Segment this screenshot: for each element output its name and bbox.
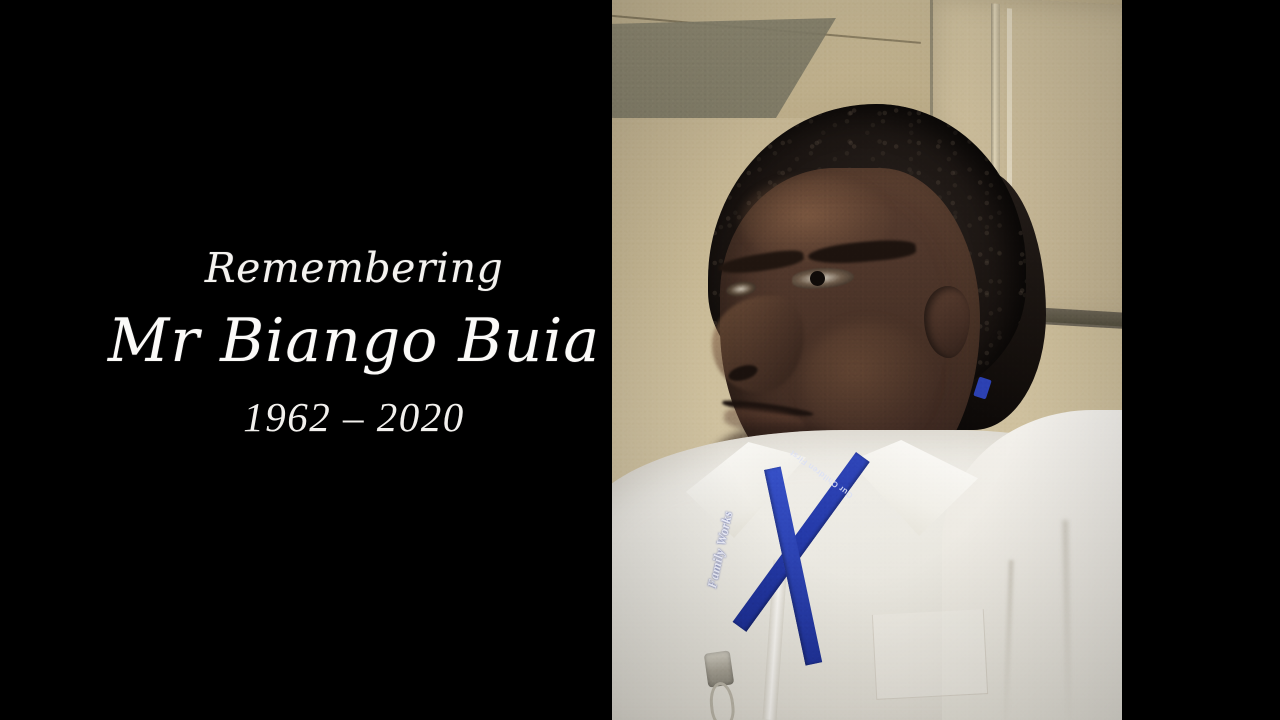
- memorial-slide: Remembering Mr Biango Buia 1962 – 2020: [0, 0, 1280, 720]
- memorial-text-block: Remembering Mr Biango Buia 1962 – 2020: [0, 248, 708, 438]
- memorial-dates: 1962 – 2020: [0, 397, 708, 438]
- memorial-portrait-photo: Family Works Our Children First: [612, 0, 1122, 720]
- memorial-heading: Remembering: [0, 248, 708, 289]
- subject-cheek-highlight: [802, 322, 934, 442]
- subject-pupil-near: [810, 271, 825, 286]
- shirt-pocket: [872, 609, 988, 700]
- memorial-name: Mr Biango Buia: [0, 311, 708, 371]
